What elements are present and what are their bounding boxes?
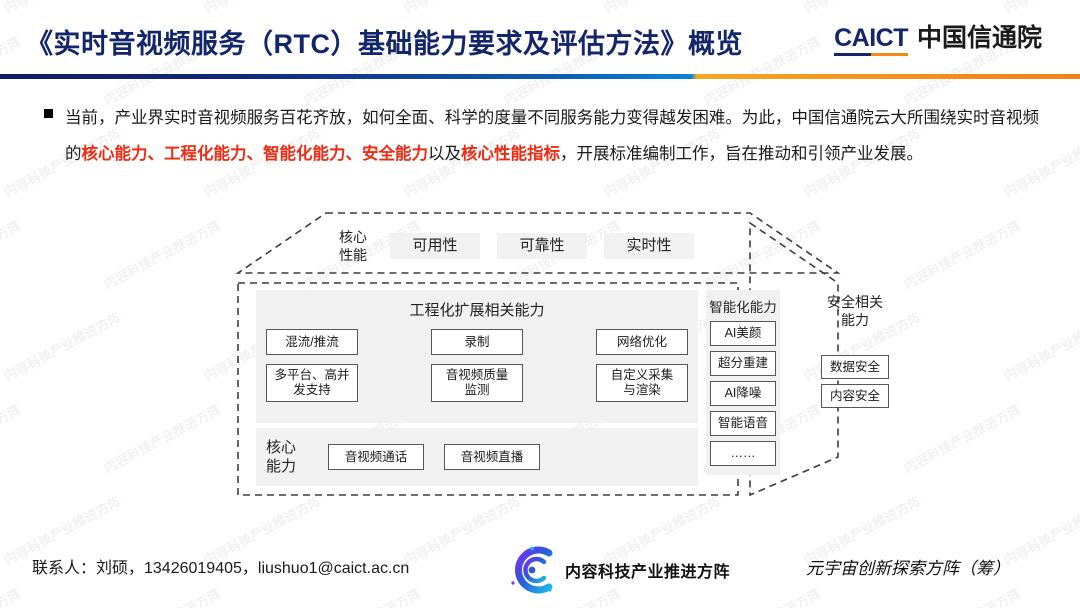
page-title: 《实时音视频服务（RTC）基础能力要求及评估方法》概览: [26, 22, 743, 61]
capability-cell-data-security: 数据安全: [821, 355, 889, 379]
core-performance-label: 核心性能: [333, 228, 373, 264]
capability-cell-recording: 录制: [431, 329, 523, 355]
performance-item-realtime: 实时性: [604, 233, 694, 259]
security-panel-title: 安全相关能力: [816, 293, 894, 329]
intelligent-panel-title: 智能化能力: [706, 292, 780, 321]
core-performance-band: 核心性能 可用性 可靠性 实时性: [333, 223, 738, 268]
watermark-text: 内容科技产业推进方阵: [0, 215, 24, 293]
slide-header: 《实时音视频服务（RTC）基础能力要求及评估方法》概览 CAICT 中国信通院: [0, 0, 1080, 78]
caict-logo-chinese: 中国信通院: [917, 26, 1042, 56]
capability-cell-mix-push: 混流/推流: [266, 329, 358, 355]
alliance-c-logo-icon: [505, 543, 559, 597]
performance-item-reliability: 可靠性: [497, 233, 587, 259]
caict-logo-latin: CAICT: [834, 26, 908, 56]
alliance-logo-text: 内容科技产业推进方阵: [565, 558, 730, 582]
paragraph-segment-2: 以及: [428, 145, 461, 163]
capability-cell-content-security: 内容安全: [821, 384, 889, 408]
metaverse-alliance-text: 元宇宙创新探索方阵（筹）: [806, 554, 1010, 579]
watermark-text: 内容科技产业推进方阵: [0, 399, 24, 477]
capability-cell-network-optimization: 网络优化: [596, 329, 688, 355]
bullet-square-icon: [44, 109, 53, 118]
security-cell-group: 数据安全 内容安全: [816, 355, 894, 408]
intro-paragraph: 当前，产业界实时音视频服务百花齐放，如何全面、科学的度量不同服务能力变得越发困难…: [65, 100, 1039, 172]
engineering-row-1: 混流/推流 录制 网络优化: [266, 329, 688, 355]
watermark-text: 内容科技产业推进方阵: [900, 215, 1024, 293]
front-face-content: 工程化扩展相关能力 混流/推流 录制 网络优化 多平台、高并发支持 音视频质量监…: [256, 290, 698, 486]
caict-logo-underline: [834, 53, 908, 56]
watermark-text: 内容科技产业推进方阵: [1000, 307, 1080, 385]
performance-item-availability: 可用性: [390, 233, 480, 259]
core-capability-label: 核心能力: [266, 438, 308, 476]
header-divider: [0, 74, 1080, 79]
capability-cell-super-resolution: 超分重建: [710, 351, 776, 376]
paragraph-highlight-1: 核心能力、工程化能力、智能化能力、安全能力: [82, 145, 429, 163]
capability-cell-ai-denoise: AI降噪: [710, 381, 776, 406]
caict-logo-latin-text: CAICT: [834, 24, 908, 52]
rtc-capability-cube-diagram: 核心性能 可用性 可靠性 实时性 工程化扩展相关能力 混流/推流 录制 网络优化…: [238, 205, 838, 505]
capability-cell-smart-voice: 智能语音: [710, 411, 776, 436]
engineering-capability-panel: 工程化扩展相关能力 混流/推流 录制 网络优化 多平台、高并发支持 音视频质量监…: [256, 290, 698, 423]
intelligent-capability-panel: 智能化能力 AI美颜 超分重建 AI降噪 智能语音 ……: [706, 290, 780, 475]
slide-footer: 联系人：刘硕，13426019405，liushuo1@caict.ac.cn …: [0, 540, 1080, 608]
capability-cell-av-quality-monitoring: 音视频质量监测: [431, 364, 523, 402]
engineering-row-2: 多平台、高并发支持 音视频质量监测 自定义采集与渲染: [266, 364, 688, 402]
caict-logo: CAICT 中国信通院: [834, 26, 1042, 56]
contact-info: 联系人：刘硕，13426019405，liushuo1@caict.ac.cn: [32, 554, 409, 578]
watermark-text: 内容科技产业推进方阵: [100, 215, 224, 293]
capability-cell-av-live: 音视频直播: [444, 444, 540, 470]
capability-cell-ellipsis: ……: [710, 441, 776, 466]
capability-cell-custom-capture-render: 自定义采集与渲染: [596, 364, 688, 402]
watermark-text: 内容科技产业推进方阵: [100, 399, 224, 477]
engineering-panel-title: 工程化扩展相关能力: [266, 299, 688, 320]
intro-paragraph-block: 当前，产业界实时音视频服务百花齐放，如何全面、科学的度量不同服务能力变得越发困难…: [44, 100, 1039, 172]
capability-cell-multiplatform-concurrency: 多平台、高并发支持: [266, 364, 358, 402]
capability-cell-av-call: 音视频通话: [328, 444, 424, 470]
watermark-text: 内容科技产业推进方阵: [900, 399, 1024, 477]
watermark-text: 内容科技产业推进方阵: [0, 307, 124, 385]
paragraph-segment-3: ，开展标准编制工作，旨在推动和引领产业发展。: [560, 145, 923, 163]
capability-cell-ai-beauty: AI美颜: [710, 321, 776, 346]
security-capability-panel: 安全相关能力 数据安全 内容安全: [816, 293, 894, 413]
paragraph-highlight-2: 核心性能指标: [461, 145, 560, 163]
core-capability-panel: 核心能力 音视频通话 音视频直播: [256, 428, 698, 486]
alliance-logo: 内容科技产业推进方阵: [505, 543, 730, 597]
